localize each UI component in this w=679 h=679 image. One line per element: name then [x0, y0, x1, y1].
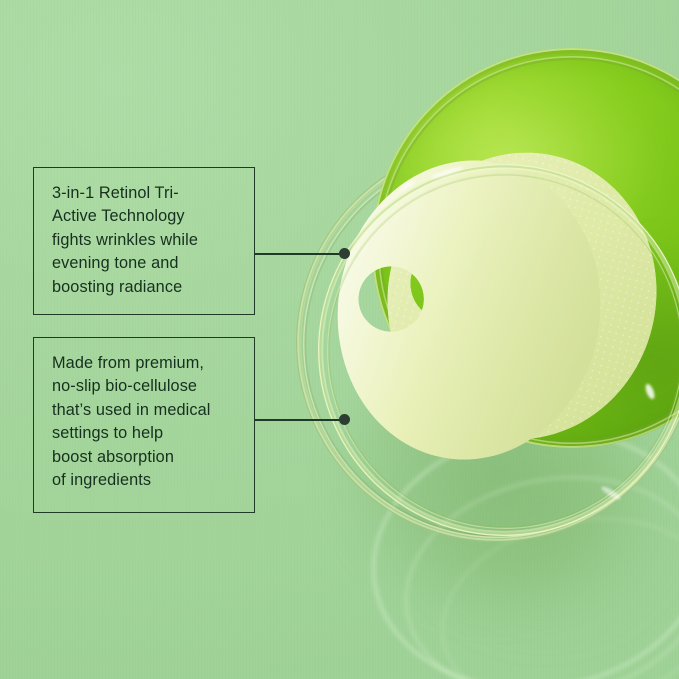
- callout-box-retinol: 3-in-1 Retinol Tri- Active Technology fi…: [33, 167, 255, 315]
- callout-leader-line-2: [255, 419, 341, 421]
- glass-rim-ring-inner: [327, 173, 679, 529]
- callout-box-biocellulose: Made from premium, no-slip bio-cellulose…: [33, 337, 255, 513]
- callout-leader-line-1: [255, 253, 341, 255]
- product-infographic: 3-in-1 Retinol Tri- Active Technology fi…: [0, 0, 679, 679]
- callout-leader-dot-1: [339, 248, 350, 259]
- callout-text-biocellulose: Made from premium, no-slip bio-cellulose…: [52, 352, 238, 493]
- callout-leader-dot-2: [339, 414, 350, 425]
- callout-text-retinol: 3-in-1 Retinol Tri- Active Technology fi…: [52, 182, 238, 299]
